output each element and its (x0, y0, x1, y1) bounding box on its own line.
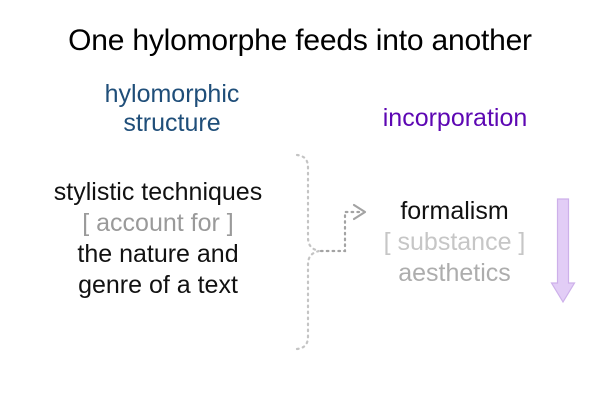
heading-left-line-1: hylomorphic (22, 80, 322, 109)
dotted-curly-brace-icon (297, 155, 319, 349)
slide-canvas: One hylomorphe feeds into another hylomo… (0, 0, 600, 400)
right-term-bracket: [ substance ] (352, 227, 557, 258)
right-term-line: formalism (352, 196, 557, 227)
right-term-line: aesthetics (352, 258, 557, 289)
left-term-line: genre of a text (8, 270, 308, 301)
column-heading-hylomorphic-structure: hylomorphic structure (22, 80, 322, 138)
page-title: One hylomorphe feeds into another (0, 24, 600, 58)
down-arrow-icon (552, 199, 575, 302)
column-heading-incorporation: incorporation (330, 104, 580, 133)
right-term-block: formalism [ substance ] aesthetics (352, 196, 557, 289)
heading-left-line-2: structure (22, 109, 322, 138)
purple-down-arrow (548, 198, 578, 306)
brace-connector-group (288, 146, 378, 358)
left-term-block: stylistic techniques [ account for ] the… (8, 177, 308, 301)
left-term-line: the nature and (8, 239, 308, 270)
left-term-line: stylistic techniques (8, 177, 308, 208)
left-term-bracket: [ account for ] (8, 208, 308, 239)
